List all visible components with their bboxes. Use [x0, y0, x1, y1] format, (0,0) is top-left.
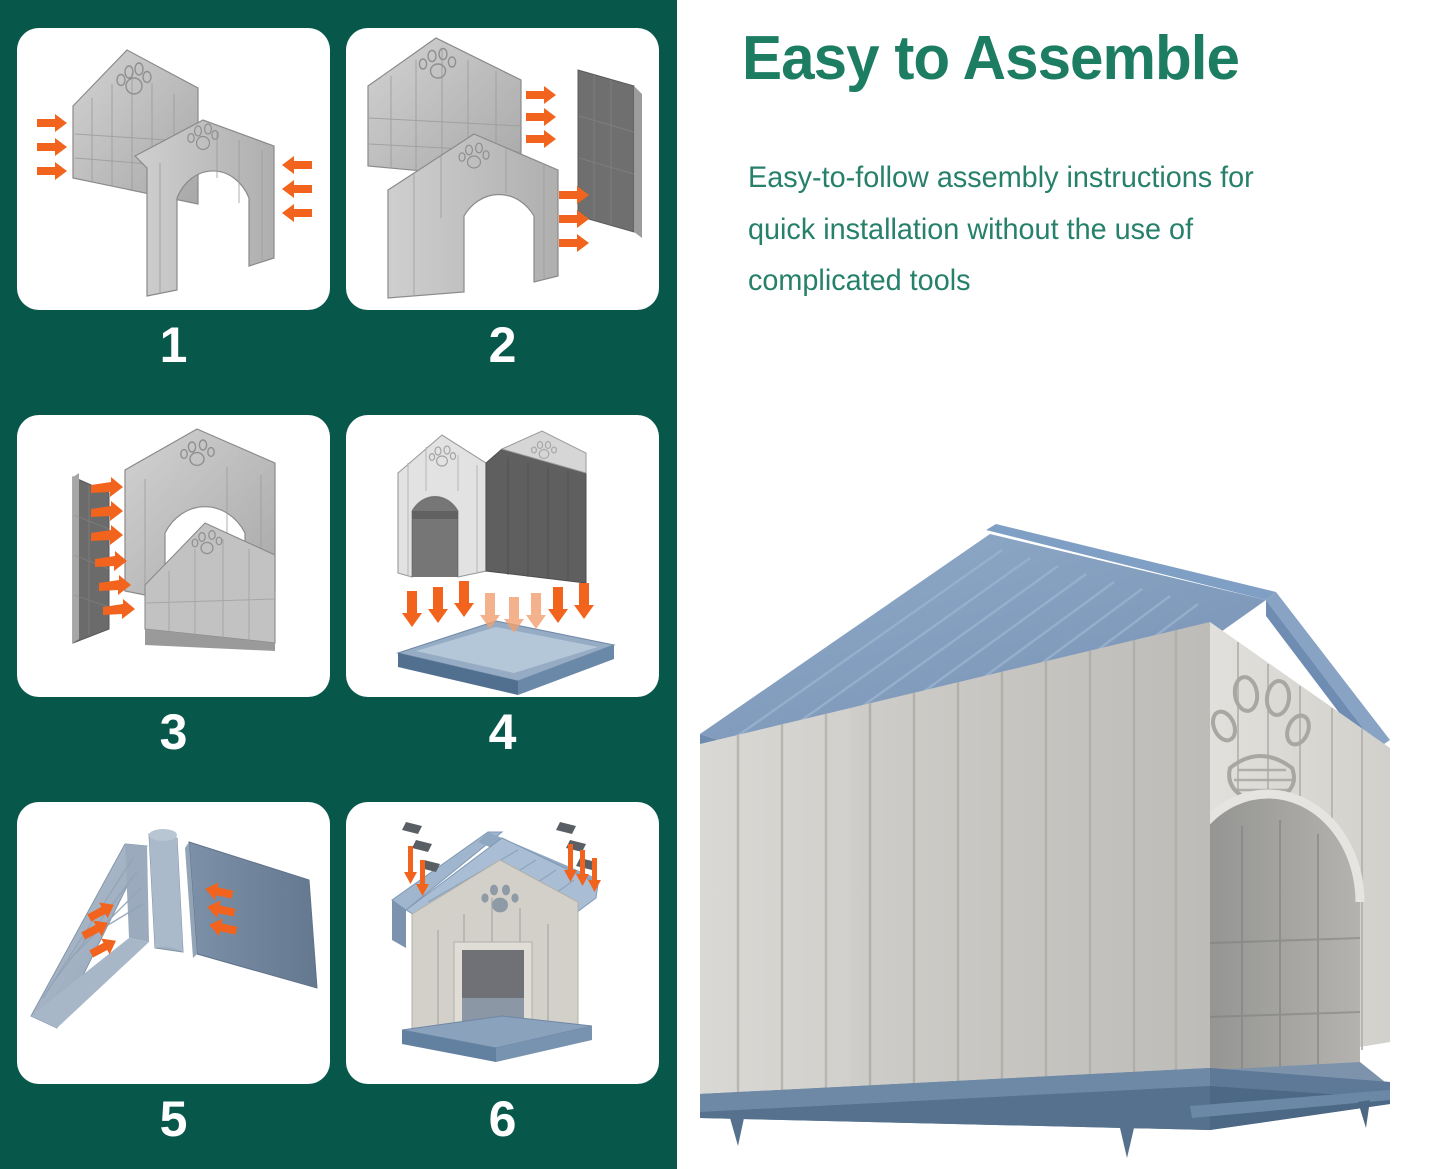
- step-6-number: 6: [346, 1094, 659, 1144]
- step-5-number: 5: [17, 1094, 330, 1144]
- assembled-dog-house: [690, 482, 1442, 1162]
- step-5: 5: [17, 802, 330, 1159]
- step-6-card: [346, 802, 659, 1084]
- infographic-page: 1: [0, 0, 1445, 1169]
- step-2-illustration: [346, 28, 659, 310]
- step-1: 1: [17, 28, 330, 385]
- base-foot-center: [1120, 1128, 1134, 1158]
- step-1-card: [17, 28, 330, 310]
- step-2-number: 2: [346, 320, 659, 370]
- dog-house-illustration: [690, 482, 1442, 1162]
- page-subtitle: Easy-to-follow assembly instructions for…: [748, 152, 1401, 307]
- step-6-illustration: [346, 802, 659, 1084]
- subtitle-line-3: complicated tools: [748, 255, 1401, 307]
- assembly-steps-panel: 1: [0, 0, 677, 1169]
- step-3-number: 3: [17, 707, 330, 757]
- step-6: 6: [346, 802, 659, 1159]
- step-3: 3: [17, 415, 330, 772]
- step-4-number: 4: [346, 707, 659, 757]
- step-2-card: [346, 28, 659, 310]
- page-title: Easy to Assemble: [742, 26, 1402, 91]
- step-1-illustration: [17, 28, 330, 310]
- step-3-illustration: [17, 415, 330, 697]
- step-5-illustration: [17, 802, 330, 1084]
- base-foot-right: [1358, 1100, 1370, 1128]
- assembly-steps-grid: 1: [0, 0, 677, 1169]
- step-1-arrows-left: [37, 114, 67, 180]
- base-foot-left: [730, 1118, 744, 1146]
- step-4-card: [346, 415, 659, 697]
- step-5-card: [17, 802, 330, 1084]
- subtitle-line-2: quick installation without the use of: [748, 204, 1401, 256]
- step-4: 4: [346, 415, 659, 772]
- step-4-illustration: [346, 415, 659, 697]
- step-3-card: [17, 415, 330, 697]
- step-2: 2: [346, 28, 659, 385]
- subtitle-line-1: Easy-to-follow assembly instructions for: [748, 152, 1401, 204]
- step-1-number: 1: [17, 320, 330, 370]
- step-1-arrows-right: [282, 156, 312, 222]
